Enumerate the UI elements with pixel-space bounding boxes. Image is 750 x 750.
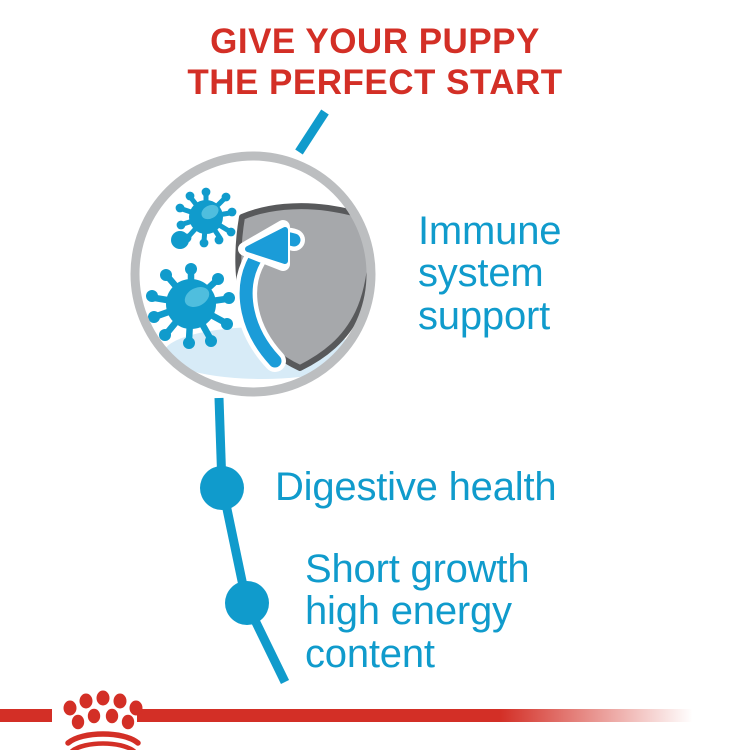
bullet-dot-short-growth [225, 581, 269, 625]
benefit-line: content [305, 633, 529, 675]
bullet-dot-digestive-health [200, 466, 244, 510]
benefit-line: Short growth [305, 548, 529, 590]
connector-line-top [299, 112, 325, 152]
footer-rule-left [0, 709, 52, 722]
benefit-label-short-growth-high-energy-content: Short growth high energy content [305, 548, 529, 675]
benefit-line: system [418, 252, 561, 294]
benefit-line: support [418, 295, 561, 337]
benefit-label-immune-system-support: Immune system support [418, 210, 561, 337]
benefit-line: Digestive health [275, 466, 556, 508]
footer-brand-bar [0, 690, 750, 750]
royal-canin-crown-logo [64, 691, 143, 750]
benefit-label-digestive-health: Digestive health [275, 466, 556, 508]
benefit-line: high energy [305, 590, 529, 632]
virus-dot-icon [171, 231, 189, 249]
immune-system-icon [135, 156, 372, 392]
footer-rule-right [137, 709, 722, 722]
benefit-line: Immune [418, 210, 561, 252]
